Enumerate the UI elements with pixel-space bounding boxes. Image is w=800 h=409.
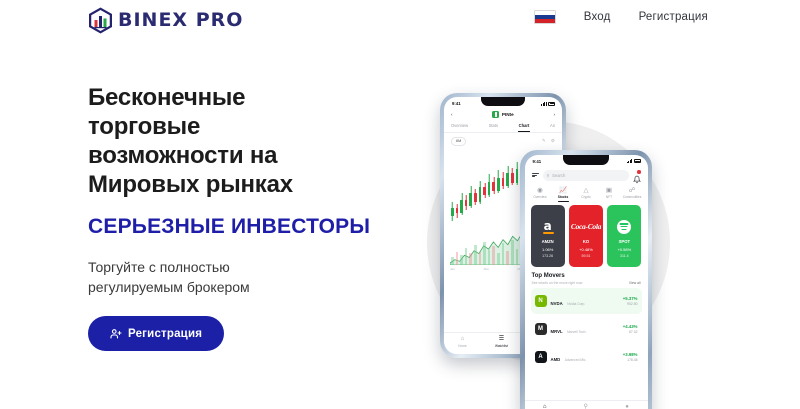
user-plus-icon — [110, 328, 122, 340]
stock-cards: a AMZN 1.06% 173.26 Coca-Cola KO +0.48% … — [525, 203, 648, 267]
russia-flag-icon[interactable] — [534, 10, 556, 24]
nav-home[interactable]: ⌂ Home — [458, 336, 467, 348]
card-change: +0.48% — [579, 247, 593, 252]
candle — [483, 152, 486, 224]
nft-icon: ▣ — [606, 187, 612, 194]
hero-content: Бесконечные торговые возможности на Миро… — [88, 83, 388, 351]
candle — [469, 152, 472, 224]
home-icon: ⌂ — [543, 404, 547, 409]
nav-watchlist[interactable]: ☰ Watchlist — [495, 336, 508, 348]
status-time: 9:41 — [533, 159, 542, 164]
chart-tool-icons: ✎ ⚙ — [542, 138, 555, 144]
axis-tick: Jan — [450, 267, 455, 271]
candle — [460, 152, 463, 224]
phone-notch — [481, 97, 525, 106]
app-title: PINte — [502, 112, 514, 117]
filter-icon[interactable] — [532, 173, 539, 178]
page-title: Бесконечные торговые возможности на Миро… — [88, 83, 338, 199]
volume-bar — [469, 253, 472, 264]
card-price: 311.4 — [620, 254, 629, 258]
brand-logo[interactable]: BINEX PRO — [88, 7, 243, 34]
hero-subtitle: Торгуйте с полностью регулируемым брокер… — [88, 257, 303, 297]
stock-card-cocacola[interactable]: Coca-Cola KO +0.48% 59.51 — [569, 205, 603, 267]
candle — [492, 152, 495, 224]
list-item[interactable]: N NVDA Nvidia Corp. +5.37% 902.50 — [531, 288, 642, 314]
volume-bar — [511, 240, 514, 264]
top-movers-subtitle: See what's on the move right now — [532, 281, 583, 285]
candle — [474, 152, 477, 224]
user-icon: ● — [625, 404, 629, 409]
phone-notch — [563, 155, 609, 165]
bottom-nav-front: ⌂ Home ⚲ Search ● Profile — [525, 400, 648, 409]
status-icons — [627, 159, 641, 163]
volume-bar — [451, 257, 454, 264]
card-price: 173.26 — [542, 254, 553, 258]
app-header: ‹ PINte › — [444, 108, 562, 120]
brand-name: BINEX PRO — [118, 11, 243, 30]
mover-name: Advanced Mic. — [565, 358, 587, 362]
volume-bar — [479, 252, 482, 265]
back-chevron-icon[interactable]: ‹ — [451, 112, 453, 117]
hexagon-bar-chart-logo-icon — [88, 7, 113, 34]
register-button-label: Регистрация — [128, 328, 202, 340]
mover-ticker: AMD — [551, 357, 561, 362]
phone-mockup-front: 9:41 ⚲ Search — [520, 150, 652, 409]
category-label: Overview — [533, 195, 546, 199]
category-stocks[interactable]: 📈 Stocks — [554, 187, 573, 200]
stock-card-spotify[interactable]: SPOT +0.58% 311.4 — [607, 205, 641, 267]
card-ticker: AMZN — [542, 239, 554, 244]
candle — [465, 152, 468, 224]
candle — [506, 152, 509, 224]
phone-screen-front: 9:41 ⚲ Search — [525, 155, 648, 409]
search-icon: ⚲ — [584, 404, 588, 409]
more-icon[interactable]: › — [553, 112, 555, 117]
register-button[interactable]: Регистрация — [88, 316, 224, 351]
candle — [488, 152, 491, 224]
nav-home[interactable]: ⌂ Home — [540, 404, 549, 409]
card-change: +0.58% — [617, 247, 631, 252]
category-overview[interactable]: ◉ Overview — [531, 187, 550, 200]
mover-change: +5.37% — [623, 296, 638, 301]
mover-name: Nvidia Corp. — [567, 302, 585, 306]
mover-name: Marvell Tech. — [567, 330, 586, 334]
card-ticker: KO — [583, 239, 589, 244]
volume-bar — [460, 255, 463, 265]
category-label: Stocks — [558, 195, 568, 199]
card-change: 1.06% — [542, 247, 553, 252]
nav-link-register[interactable]: Регистрация — [639, 11, 708, 23]
app-tabs: Overview Stats Chart An — [444, 120, 562, 133]
tab-analysis[interactable]: An — [549, 120, 556, 132]
category-tabs: ◉ Overview 📈 Stocks △ Crypto ▣ NFT — [525, 184, 648, 204]
volume-bar — [497, 253, 500, 265]
tab-chart[interactable]: Chart — [518, 120, 531, 132]
tab-overview[interactable]: Overview — [450, 120, 469, 132]
ticker-icon: M — [535, 323, 547, 335]
nav-search[interactable]: ⚲ Search — [581, 404, 591, 409]
candle — [516, 152, 519, 224]
volume-bar — [456, 252, 459, 264]
range-pill[interactable]: 6M — [451, 137, 466, 146]
volume-bar — [492, 246, 495, 265]
nav-label: Watchlist — [495, 344, 508, 348]
list-item[interactable]: A AMD Advanced Mic. +3.98% 178.48 — [531, 344, 642, 370]
candle — [502, 152, 505, 224]
nav-link-login[interactable]: Вход — [584, 11, 611, 23]
notification-bell-icon[interactable] — [633, 171, 641, 180]
search-icon: ⚲ — [547, 173, 550, 178]
signal-icon — [627, 159, 632, 163]
volume-bar — [488, 250, 491, 265]
volume-bar — [474, 245, 477, 265]
volume-bar — [465, 248, 468, 265]
ticker-icon: N — [535, 295, 547, 307]
coca-cola-logo-icon: Coca-Cola — [571, 218, 601, 235]
amazon-logo-icon: a — [544, 218, 552, 235]
app-logo-icon — [492, 111, 499, 118]
card-price: 59.51 — [581, 254, 590, 258]
category-nft[interactable]: ▣ NFT — [600, 187, 619, 200]
mover-price: 67.32 — [623, 330, 638, 334]
candle — [497, 152, 500, 224]
chart-controls: 6M ✎ ⚙ — [444, 133, 562, 150]
header-nav: Вход Регистрация — [534, 10, 708, 24]
card-ticker: SPOT — [619, 239, 630, 244]
signal-icon — [541, 102, 546, 106]
search-input[interactable]: ⚲ Search — [543, 170, 629, 181]
ticker-icon: A — [535, 351, 547, 363]
spotify-logo-icon — [617, 218, 631, 235]
nav-profile[interactable]: ● Profile — [623, 404, 632, 409]
battery-icon — [548, 102, 555, 106]
nav-label: Home — [458, 344, 467, 348]
candle — [456, 152, 459, 224]
notification-badge — [637, 170, 641, 174]
category-label: Commodities — [623, 195, 642, 199]
view-all-link[interactable]: View all — [629, 281, 641, 285]
top-movers-header: Top Movers See what's on the move right … — [525, 267, 648, 286]
mover-change: +3.98% — [623, 352, 638, 357]
mover-price: 178.48 — [623, 358, 638, 362]
mover-price: 902.50 — [623, 302, 638, 306]
globe-icon: ◉ — [537, 187, 543, 194]
mover-change: +4.43% — [623, 324, 638, 329]
commodity-icon: ☍ — [629, 187, 636, 194]
site-header: BINEX PRO Вход Регистрация — [0, 0, 800, 42]
mover-ticker: MRVL — [551, 329, 563, 334]
candle — [479, 152, 482, 224]
category-label: Crypto — [581, 195, 590, 199]
triangle-icon: △ — [584, 187, 589, 194]
candle — [511, 152, 514, 224]
volume-bar — [483, 242, 486, 265]
home-icon: ⌂ — [461, 336, 465, 342]
hero-illustration: 9:41 ‹ PINte › Overview Sta — [398, 0, 800, 409]
search-placeholder: Search — [552, 173, 565, 178]
app-title-group: PINte — [492, 111, 513, 118]
axis-tick: Mar — [484, 267, 489, 271]
hero-accent-title: СЕРЬЕЗНЫЕ ИНВЕСТОРЫ — [88, 213, 388, 240]
volume-bar — [506, 251, 509, 265]
pencil-icon[interactable]: ✎ — [542, 138, 546, 144]
landing-page: BINEX PRO Вход Регистрация Бесконечные т… — [0, 0, 800, 409]
chart-icon: 📈 — [559, 187, 567, 194]
category-commodities[interactable]: ☍ Commodities — [623, 187, 642, 200]
volume-bar — [502, 243, 505, 264]
mover-ticker: NVDA — [551, 301, 563, 306]
candle — [451, 152, 454, 224]
category-label: NFT — [606, 195, 612, 199]
volume-bar — [516, 249, 519, 265]
settings-icon[interactable]: ⚙ — [551, 138, 555, 144]
tab-stats[interactable]: Stats — [488, 120, 499, 132]
status-icons — [541, 102, 555, 106]
stock-card-amazon[interactable]: a AMZN 1.06% 173.26 — [531, 205, 565, 267]
list-item[interactable]: M MRVL Marvell Tech. +4.43% 67.32 — [531, 316, 642, 342]
top-movers-title: Top Movers — [532, 273, 641, 279]
list-icon: ☰ — [499, 336, 504, 342]
search-row: ⚲ Search — [525, 166, 648, 184]
battery-icon — [634, 159, 641, 163]
category-crypto[interactable]: △ Crypto — [577, 187, 596, 200]
status-time: 9:41 — [452, 101, 461, 106]
